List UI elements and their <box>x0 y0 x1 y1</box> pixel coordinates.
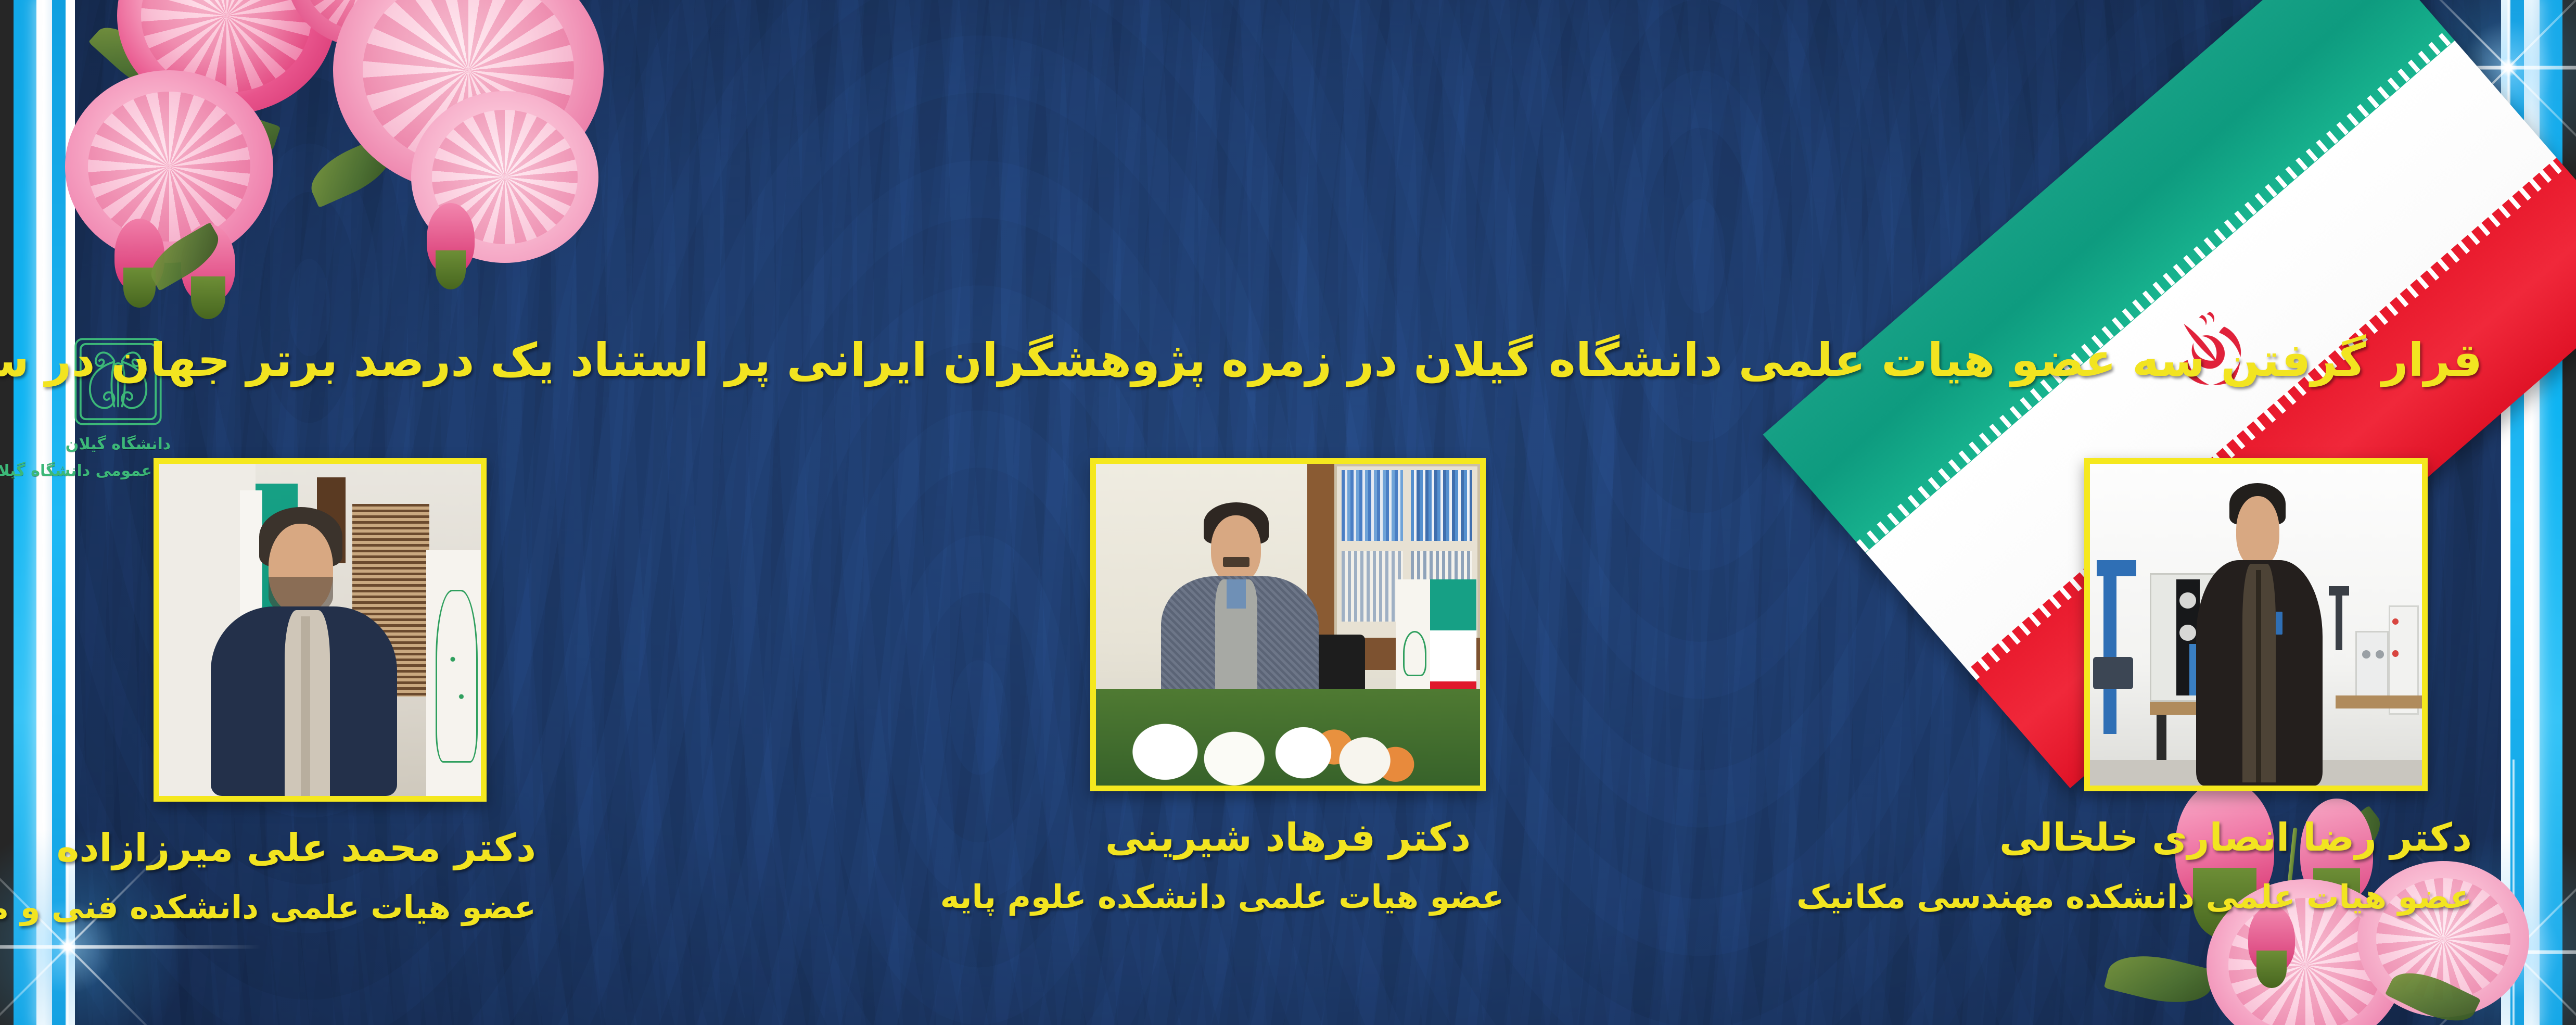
page-title: قرار گرفتن سه عضو هیات علمی دانشگاه گیلا… <box>224 333 2482 387</box>
honoree-photo-frame <box>154 458 487 802</box>
ribbon-white-strip-left-inner <box>66 0 75 1025</box>
honoree-photo-ansari-khalkhali <box>2090 464 2422 786</box>
honoree-name: دکتر رضا انصاری خلخالی <box>2040 815 2472 860</box>
ribbon-white-strip-left <box>36 0 52 1025</box>
honoree-role: عضو هیات علمی دانشکده مهندسی مکانیک <box>2040 878 2472 916</box>
honoree-card-mirzazadeh: دکتر محمد علی میرزازاده عضو هیات علمی دا… <box>104 458 536 926</box>
ribbon-dark-strip-right <box>2562 0 2576 1025</box>
ribbon-dark-strip-left <box>0 0 14 1025</box>
honoree-name: دکتر محمد علی میرزازاده <box>104 826 536 870</box>
honoree-photo-shirini <box>1096 464 1480 786</box>
university-announcement-banner: دانشگاه گیلان روابط عمومی دانشگاه گیلان … <box>0 0 2576 1025</box>
left-edge-ribbon <box>0 0 94 1025</box>
honoree-card-ansari-khalkhali: دکتر رضا انصاری خلخالی عضو هیات علمی دان… <box>2040 458 2472 916</box>
ribbon-cyan-strip-left-inner <box>52 0 66 1025</box>
ribbon-cyan-strip-left <box>14 0 36 1025</box>
honoree-name: دکتر فرهاد شیرینی <box>1072 815 1504 860</box>
honoree-photo-frame <box>2084 458 2428 791</box>
honoree-photo-mirzazadeh <box>159 464 481 796</box>
honorees-row: دکتر محمد علی میرزازاده عضو هیات علمی دا… <box>104 458 2472 926</box>
honoree-role: عضو هیات علمی دانشکده فنی و مهندسی شرق گ… <box>104 888 536 926</box>
honoree-photo-frame <box>1090 458 1486 791</box>
honoree-role: عضو هیات علمی دانشکده علوم پایه <box>1072 878 1504 916</box>
logo-script-text: دانشگاه گیلان <box>32 435 204 453</box>
honoree-card-shirini: دکتر فرهاد شیرینی عضو هیات علمی دانشکده … <box>1072 458 1504 916</box>
